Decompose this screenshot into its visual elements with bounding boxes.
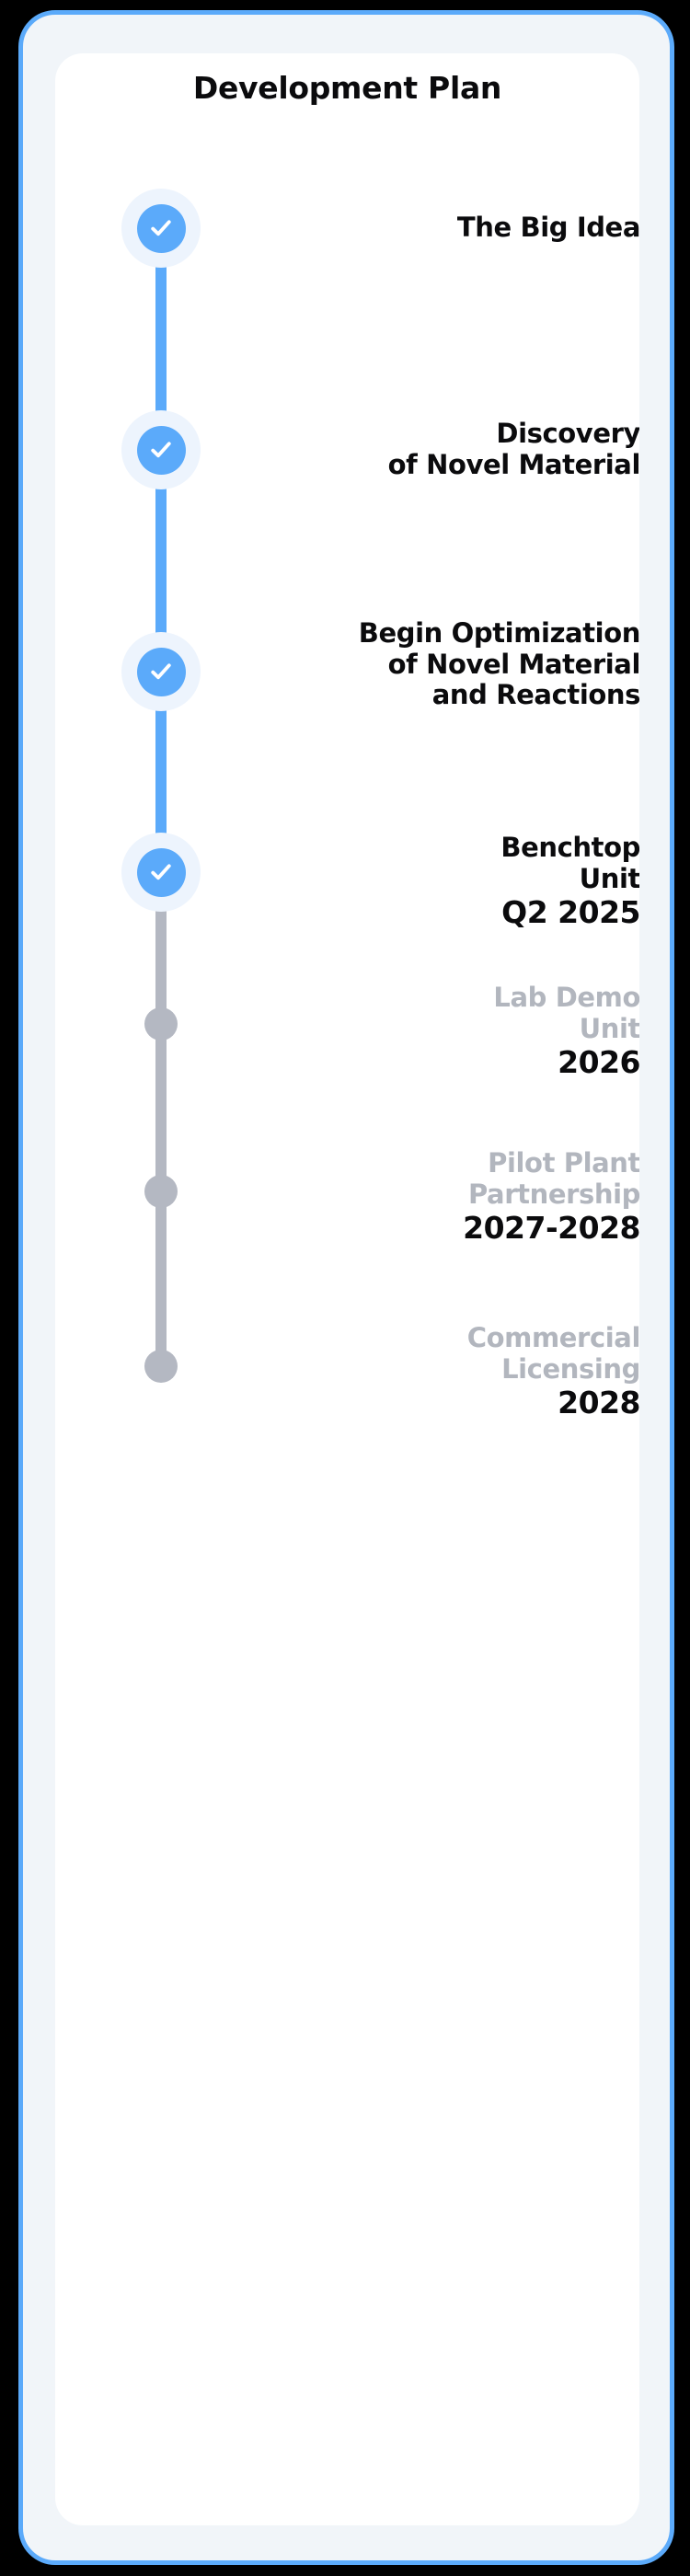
milestone-label-line: and Reactions (236, 680, 639, 711)
pending-node[interactable] (144, 1175, 178, 1208)
check-icon (147, 858, 175, 886)
check-icon (147, 214, 175, 242)
milestone-label-block: Lab DemoUnit2026 (236, 983, 639, 1081)
pending-node[interactable] (144, 1007, 178, 1041)
milestone-date: 2028 (236, 1386, 639, 1420)
milestone-label-block: BenchtopUnitQ2 2025 (236, 833, 639, 931)
completed-node[interactable] (137, 848, 186, 897)
page-title: Development Plan (55, 70, 639, 106)
milestone-label-line: Begin Optimization (236, 618, 639, 650)
milestone-label-line: Unit (236, 1014, 639, 1045)
milestone-label-block: The Big Idea (236, 213, 639, 244)
timeline: The Big IdeaDiscoveryof Novel MaterialBe… (55, 141, 639, 2525)
milestone-label-line: Commercial (236, 1323, 639, 1354)
milestone-label-block: Pilot PlantPartnership2027-2028 (236, 1148, 639, 1247)
timeline-track-pending (155, 872, 167, 1366)
milestone-date: 2027-2028 (236, 1211, 639, 1246)
check-icon (147, 436, 175, 464)
milestone-date: Q2 2025 (236, 895, 639, 930)
milestone-label-line: Lab Demo (236, 983, 639, 1014)
milestone-label-line: Licensing (236, 1354, 639, 1386)
development-plan-card: Development Plan The Big IdeaDiscoveryof… (55, 53, 639, 2525)
completed-node[interactable] (137, 204, 186, 253)
check-icon (147, 658, 175, 685)
pending-node[interactable] (144, 1350, 178, 1383)
milestone-label-line: Benchtop (236, 833, 639, 864)
milestone-label-line: of Novel Material (236, 650, 639, 681)
milestone-label-block: Discoveryof Novel Material (236, 419, 639, 480)
screen-root: Development Plan The Big IdeaDiscoveryof… (0, 0, 690, 2576)
completed-node[interactable] (137, 426, 186, 475)
milestone-label-line: Discovery (236, 419, 639, 450)
timeline-track-completed (155, 228, 167, 872)
milestone-label-block: Begin Optimizationof Novel Materialand R… (236, 618, 639, 711)
milestone-label-line: Unit (236, 864, 639, 895)
milestone-label-block: CommercialLicensing2028 (236, 1323, 639, 1421)
milestone-label-line: Pilot Plant (236, 1148, 639, 1179)
completed-node[interactable] (137, 648, 186, 696)
milestone-label-line: The Big Idea (236, 213, 639, 244)
outer-frame: Development Plan The Big IdeaDiscoveryof… (18, 10, 674, 2565)
milestone-label-line: Partnership (236, 1179, 639, 1211)
milestone-label-line: of Novel Material (236, 450, 639, 481)
milestone-date: 2026 (236, 1045, 639, 1080)
